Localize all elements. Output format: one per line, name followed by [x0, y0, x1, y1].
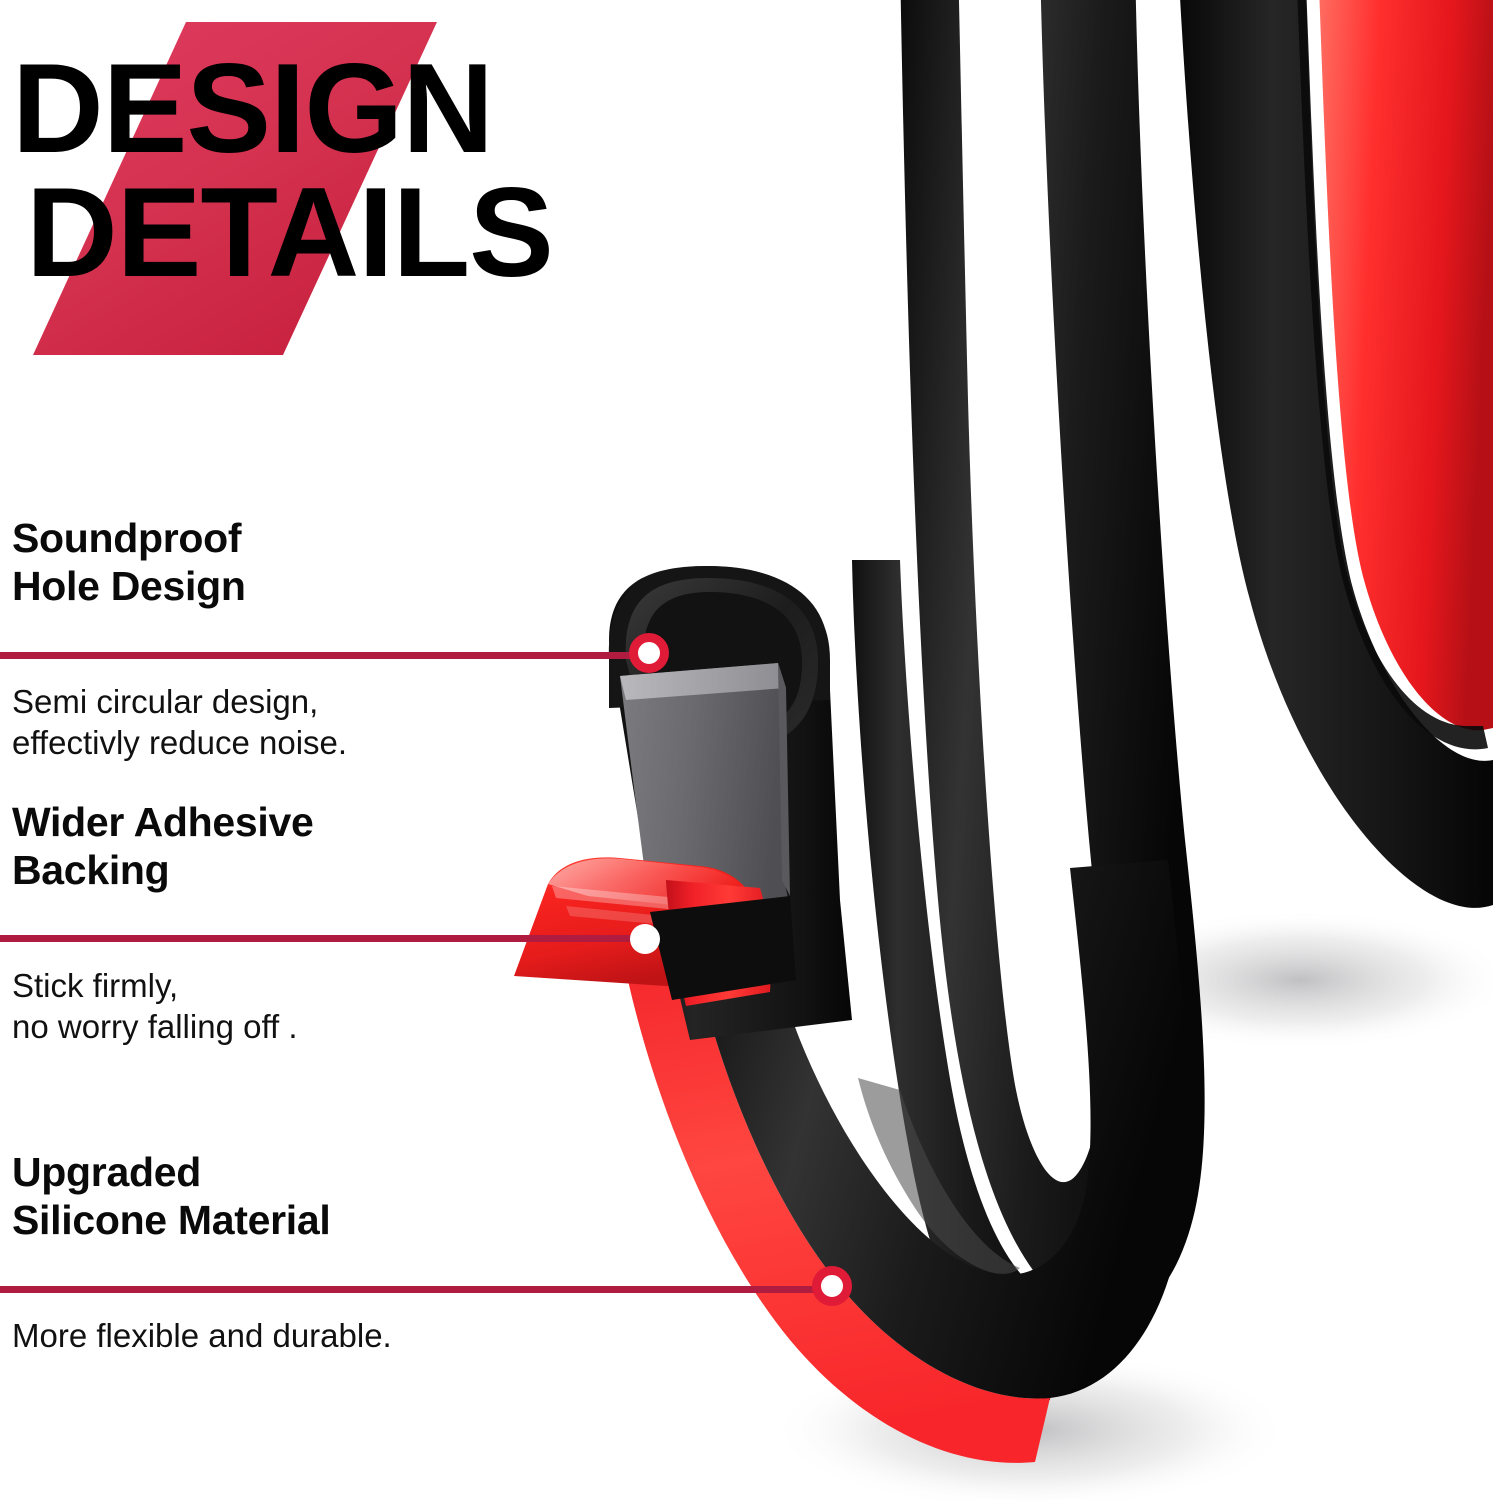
infographic-canvas: DESIGN DETAILS Soundproof Hole Design Se… — [0, 0, 1493, 1500]
leader-line-2 — [0, 935, 640, 942]
feature-description: More flexible and durable. — [12, 1316, 672, 1357]
callout-dot-upgraded-silicone-material — [812, 1266, 852, 1306]
feature-title: Soundproof Hole Design — [12, 514, 672, 611]
callout-dot-wider-adhesive-backing — [630, 924, 660, 954]
feature-soundproof-hole-design-desc: Semi circular design, effectivly reduce … — [12, 668, 672, 764]
title-line-1: DESIGN — [12, 46, 712, 170]
callout-dot-soundproof-hole — [629, 633, 669, 673]
page-title: DESIGN DETAILS — [12, 46, 712, 295]
feature-upgraded-silicone-material-desc: More flexible and durable. — [12, 1302, 672, 1357]
leader-line-3 — [0, 1286, 822, 1293]
title-line-2: DETAILS — [26, 170, 712, 294]
feature-upgraded-silicone-material: Upgraded Silicone Material — [12, 1148, 672, 1245]
feature-description: Semi circular design, effectivly reduce … — [12, 682, 672, 764]
feature-description: Stick firmly, no worry falling off . — [12, 966, 672, 1048]
feature-wider-adhesive-backing: Wider Adhesive Backing — [12, 798, 672, 895]
feature-wider-adhesive-backing-desc: Stick firmly, no worry falling off . — [12, 952, 672, 1048]
feature-title: Upgraded Silicone Material — [12, 1148, 672, 1245]
feature-title: Wider Adhesive Backing — [12, 798, 672, 895]
leader-line-1 — [0, 652, 640, 659]
feature-soundproof-hole-design: Soundproof Hole Design — [12, 514, 672, 611]
